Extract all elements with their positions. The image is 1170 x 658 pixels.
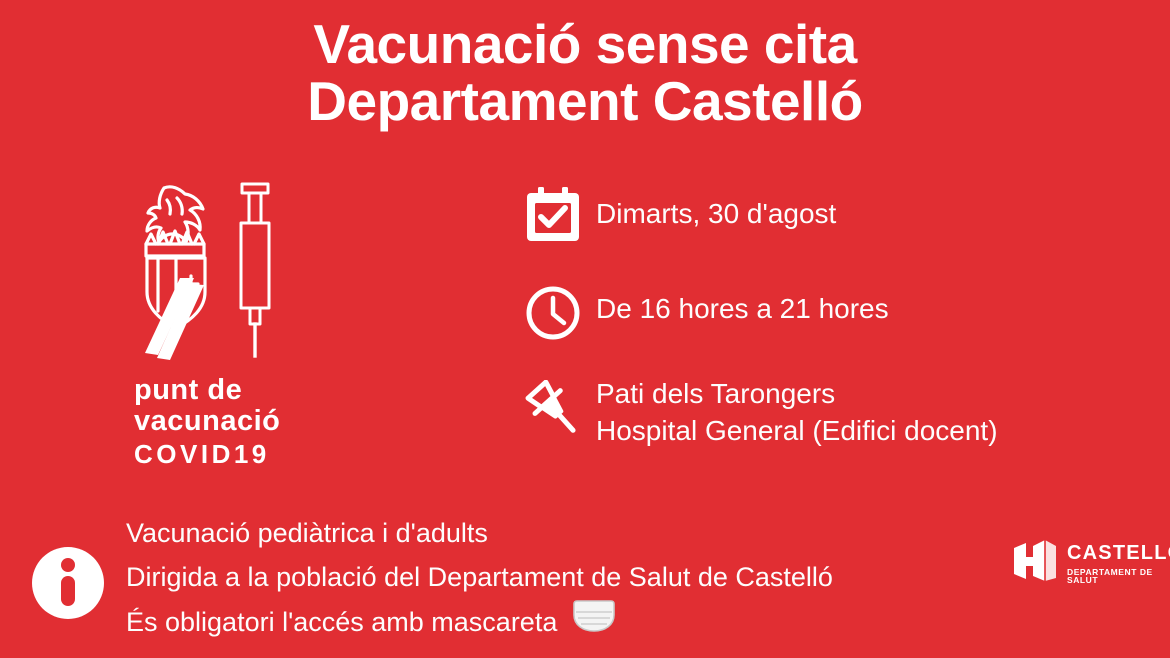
- notice-line-2: Dirigida a la població del Departament d…: [126, 556, 833, 600]
- department-logo-subtitle: DEPARTAMENT DE SALUT: [1067, 568, 1170, 585]
- map-pin-icon: [524, 380, 582, 442]
- logo-line-3: COVID19: [134, 440, 326, 470]
- department-logo: CASTELLÓ DEPARTAMENT DE SALUT: [1012, 536, 1170, 591]
- face-mask-icon: [569, 599, 619, 633]
- info-circle-icon-wrap: [28, 540, 108, 620]
- detail-row-time: De 16 hores a 21 hores: [524, 282, 1144, 342]
- hospital-h-mark-icon-wrap: [1012, 536, 1058, 591]
- page-title: Vacunació sense cita Departament Castell…: [0, 16, 1170, 129]
- notice-line-1: Vacunació pediàtrica i d'adults: [126, 512, 833, 556]
- face-mask-icon-wrap: [569, 599, 619, 647]
- notice-line-3: És obligatori l'accés amb mascareta: [126, 599, 833, 647]
- title-line-2: Departament Castelló: [0, 73, 1170, 130]
- map-pin-icon-wrap: [524, 376, 596, 442]
- logo-line-1: punt de: [134, 375, 326, 406]
- generalitat-valenciana-crest-icon: [134, 180, 218, 362]
- vaccination-poster: Vacunació sense cita Departament Castell…: [0, 0, 1170, 658]
- info-circle-icon: [31, 546, 105, 620]
- notice-line-1-text: Vacunació pediàtrica i d'adults: [126, 512, 488, 556]
- detail-place-line-2: Hospital General (Edifici docent): [596, 413, 998, 450]
- detail-date-label: Dimarts, 30 d'agost: [596, 186, 836, 233]
- detail-row-place: Pati dels Tarongers Hospital General (Ed…: [524, 376, 1144, 450]
- logo-text: punt de vacunació COVID19: [134, 375, 326, 470]
- clock-icon: [524, 284, 582, 342]
- title-line-1: Vacunació sense cita: [0, 16, 1170, 73]
- calendar-check-icon-wrap: [524, 186, 596, 244]
- event-details: Dimarts, 30 d'agost De 16 hores a 21 hor…: [524, 186, 1144, 488]
- hospital-h-mark-icon: [1012, 536, 1058, 586]
- logo-marks: [134, 180, 314, 365]
- notice-lines: Vacunació pediàtrica i d'adults Dirigida…: [126, 512, 833, 647]
- detail-place-label: Pati dels Tarongers Hospital General (Ed…: [596, 376, 998, 450]
- notice-line-2-text: Dirigida a la població del Departament d…: [126, 556, 833, 600]
- notice-block: Vacunació pediàtrica i d'adults Dirigida…: [28, 512, 833, 647]
- logo-line-2: vacunació: [134, 406, 326, 437]
- vaccination-point-logo: punt de vacunació COVID19: [126, 180, 326, 470]
- detail-row-date: Dimarts, 30 d'agost: [524, 186, 1144, 244]
- syringe-icon: [232, 180, 278, 362]
- clock-icon-wrap: [524, 282, 596, 342]
- notice-line-3-text: És obligatori l'accés amb mascareta: [126, 601, 557, 645]
- calendar-check-icon: [524, 186, 582, 244]
- detail-place-line-1: Pati dels Tarongers: [596, 376, 998, 413]
- department-logo-words: CASTELLÓ DEPARTAMENT DE SALUT: [1067, 543, 1170, 585]
- detail-time-label: De 16 hores a 21 hores: [596, 282, 889, 328]
- department-logo-name: CASTELLÓ: [1067, 543, 1170, 563]
